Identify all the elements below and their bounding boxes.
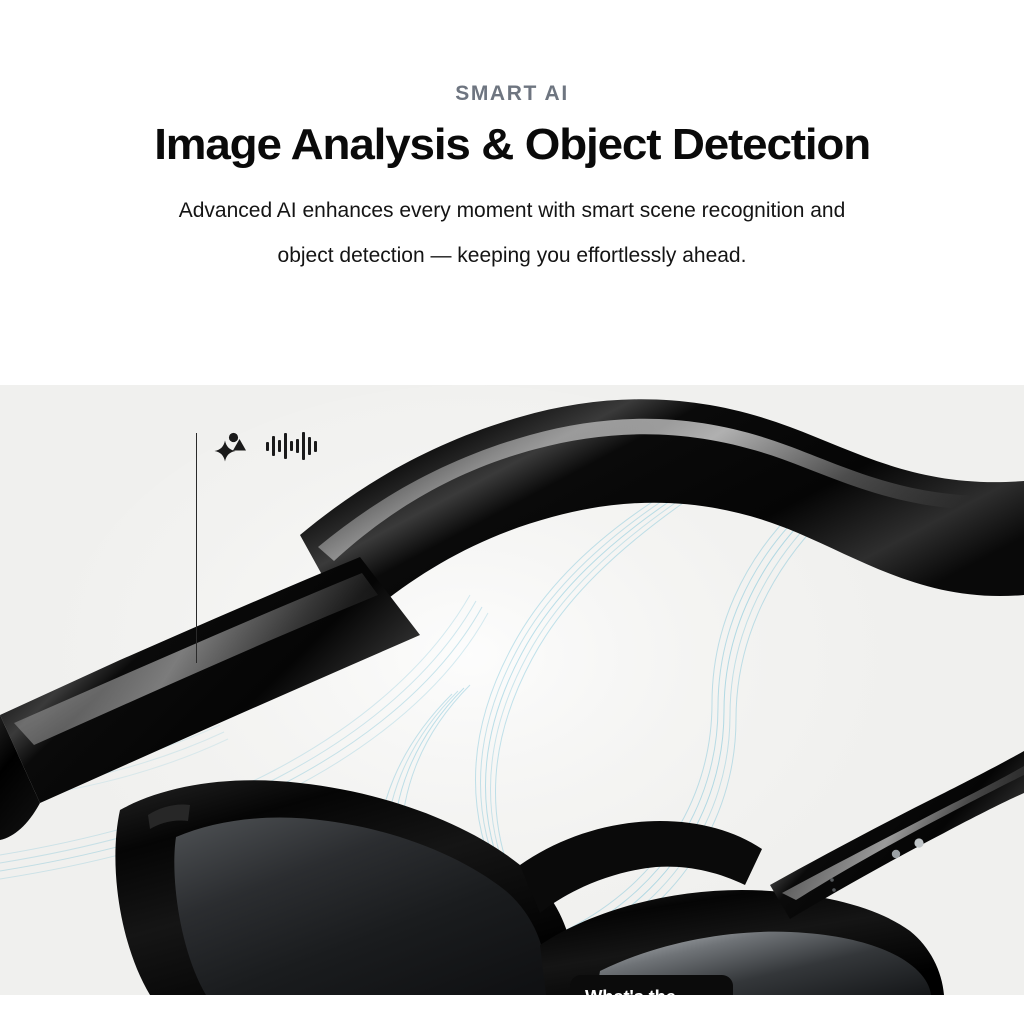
page-subtitle: Advanced AI enhances every moment with s… [162,188,862,278]
accent-vertical-rule [196,433,197,663]
waveform-bar [290,441,293,451]
voice-waveform-icon [266,431,317,461]
speech-bubble-weather[interactable]: What's the weather today? [570,975,733,995]
product-feature-page: SMART AI Image Analysis & Object Detecti… [0,0,1024,1024]
footer-whitespace [0,995,1024,1024]
waveform-bar [278,440,281,452]
waveform-bar [314,441,317,452]
waveform-bar [302,432,305,460]
waveform-bar [272,436,275,456]
mic-hole [832,888,836,892]
hero-illustration [0,385,1024,995]
page-title: Image Analysis & Object Detection [154,122,870,168]
waveform-bar [284,433,287,459]
ai-sparkle-icon [214,429,248,463]
sensor-dot [892,850,900,858]
waveform-bar [296,439,299,453]
waveform-bar [266,442,269,451]
waveform-bar [308,437,311,455]
ai-badge-row [214,429,317,463]
mic-hole [830,878,834,882]
sensor-dot [914,838,923,847]
hero-image-section: What's the weather today? Tell me about … [0,385,1024,995]
header-copy-block: SMART AI Image Analysis & Object Detecti… [0,0,1024,385]
eyebrow-label: SMART AI [455,82,569,106]
